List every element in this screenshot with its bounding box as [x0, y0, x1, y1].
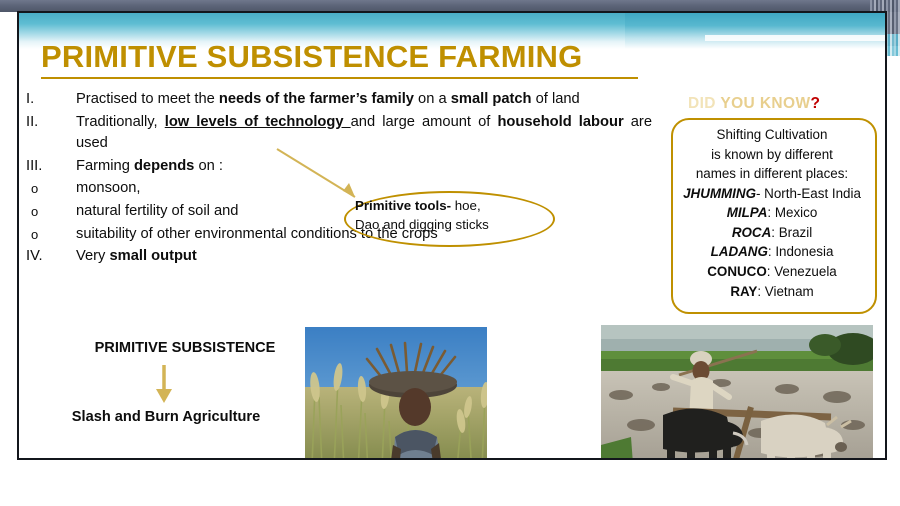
- dyk-question-mark: ?: [811, 95, 821, 112]
- dyk-entry-place: : Venezuela: [767, 264, 837, 279]
- dyk-entry-name: LADANG: [711, 244, 768, 259]
- dyk-entry-name: CONUCO: [707, 264, 767, 279]
- dyk-entry-name: MILPA: [727, 205, 768, 220]
- dyk-entry: JHUMMING- North-East India: [671, 184, 873, 204]
- dyk-entry-place: : Mexico: [767, 205, 817, 220]
- dyk-entry-name: RAY: [730, 284, 757, 299]
- dyk-entry: ROCA: Brazil: [671, 223, 873, 243]
- dyk-intro-line: is known by different: [671, 145, 873, 165]
- dyk-entry-place: : Vietnam: [757, 284, 813, 299]
- text-segment: depends: [134, 158, 194, 174]
- primitive-tools-text: Primitive tools- hoe, Dao and digging st…: [355, 196, 545, 235]
- text-segment: Traditionally,: [76, 114, 165, 130]
- page-title: PRIMITIVE SUBSISTENCE FARMING: [41, 41, 661, 72]
- label-slash-and-burn: Slash and Burn Agriculture: [41, 409, 291, 425]
- text-segment: low levels of technology: [165, 114, 351, 130]
- list-item-marker: III.: [24, 156, 70, 178]
- list-item: osuitability of other environmental cond…: [24, 224, 652, 246]
- dyk-entry-place: : Indonesia: [768, 244, 834, 259]
- text-segment: natural fertility of soil and: [76, 203, 238, 219]
- callout-line2: Dao and digging sticks: [355, 215, 545, 234]
- dyk-entry: RAY: Vietnam: [671, 282, 873, 302]
- text-segment: and large amount of: [351, 114, 498, 130]
- callout-line1-bold: Primitive tools-: [355, 198, 451, 213]
- text-segment: monsoon,: [76, 180, 141, 196]
- text-segment: small output: [109, 248, 196, 264]
- list-item-marker: o: [24, 178, 75, 199]
- dyk-entry: LADANG: Indonesia: [671, 242, 873, 262]
- dyk-intro-line: names in different places:: [671, 164, 873, 184]
- title-underline: [41, 77, 638, 79]
- list-item-marker: II.: [24, 112, 70, 134]
- text-segment: Very: [76, 248, 109, 264]
- list-item-marker: IV.: [24, 246, 70, 268]
- teal-streak: [625, 13, 885, 49]
- dyk-entry-place: - North-East India: [756, 186, 861, 201]
- text-segment: of land: [532, 91, 580, 107]
- teal-streak-highlight: [705, 35, 885, 41]
- list-item-marker: o: [24, 224, 75, 245]
- callout-line1-rest: hoe,: [451, 198, 481, 213]
- slide-stage: PRIMITIVE SUBSISTENCE FARMING I.Practise…: [0, 0, 900, 506]
- text-segment: needs of the farmer’s family: [219, 91, 414, 107]
- text-segment: Practised to meet the: [76, 91, 219, 107]
- list-item-marker: I.: [24, 89, 70, 111]
- text-segment: small patch: [451, 91, 532, 107]
- text-segment: on a: [414, 91, 451, 107]
- text-segment: on :: [194, 158, 223, 174]
- label-primitive-subsistence: PRIMITIVE SUBSISTENCE: [60, 340, 310, 356]
- text-segment: Farming: [76, 158, 134, 174]
- dyk-word-you-know: YOU KNOW: [720, 95, 810, 112]
- slide-frame: PRIMITIVE SUBSISTENCE FARMING I.Practise…: [17, 11, 887, 460]
- list-item-marker: o: [24, 201, 75, 222]
- dyk-word-did: DID: [688, 95, 716, 112]
- text-segment: household labour: [497, 114, 623, 130]
- list-item-text: Very small output: [76, 246, 652, 268]
- dyk-entry-place: : Brazil: [771, 225, 812, 240]
- down-arrow-icon: [144, 363, 184, 407]
- list-item: I.Practised to meet the needs of the far…: [24, 89, 652, 111]
- dyk-intro-line: Shifting Cultivation: [671, 125, 873, 145]
- ox-plough-photo: [601, 325, 873, 460]
- list-item-text: Practised to meet the needs of the farme…: [76, 89, 652, 111]
- millet-harvest-photo: [305, 327, 487, 460]
- did-you-know-content: Shifting Cultivationis known by differen…: [671, 125, 873, 301]
- dyk-entry: CONUCO: Venezuela: [671, 262, 873, 282]
- list-item: IV.Very small output: [24, 246, 652, 268]
- dyk-entry: MILPA: Mexico: [671, 203, 873, 223]
- dyk-entry-name: JHUMMING: [683, 186, 756, 201]
- did-you-know-heading: DID YOU KNOW?: [688, 95, 820, 113]
- dyk-entry-name: ROCA: [732, 225, 771, 240]
